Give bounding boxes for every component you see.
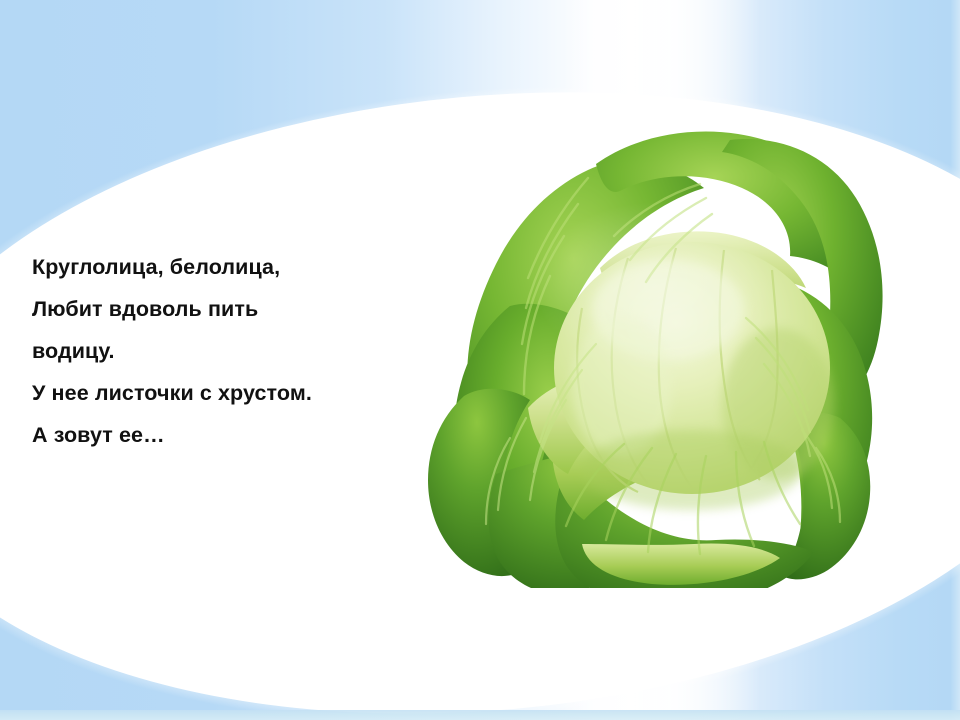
cabbage-illustration [400,118,900,588]
riddle-line-2: Любит вдоволь пить [32,288,424,330]
riddle-line-4: У нее листочки с хрустом. [32,372,424,414]
cabbage-svg [400,118,900,588]
riddle-line-3: водицу. [32,330,424,372]
riddle-line-1: Круглолица, белолица, [32,246,424,288]
slide-canvas: Круглолица, белолица, Любит вдоволь пить… [0,0,960,720]
cabbage-sheen [534,202,774,370]
riddle-line-5: А зовут ее… [32,414,424,456]
riddle-text-block: Круглолица, белолица, Любит вдоволь пить… [32,246,424,456]
bottom-light-band [0,710,960,720]
head-shadow-bottom [582,430,802,510]
